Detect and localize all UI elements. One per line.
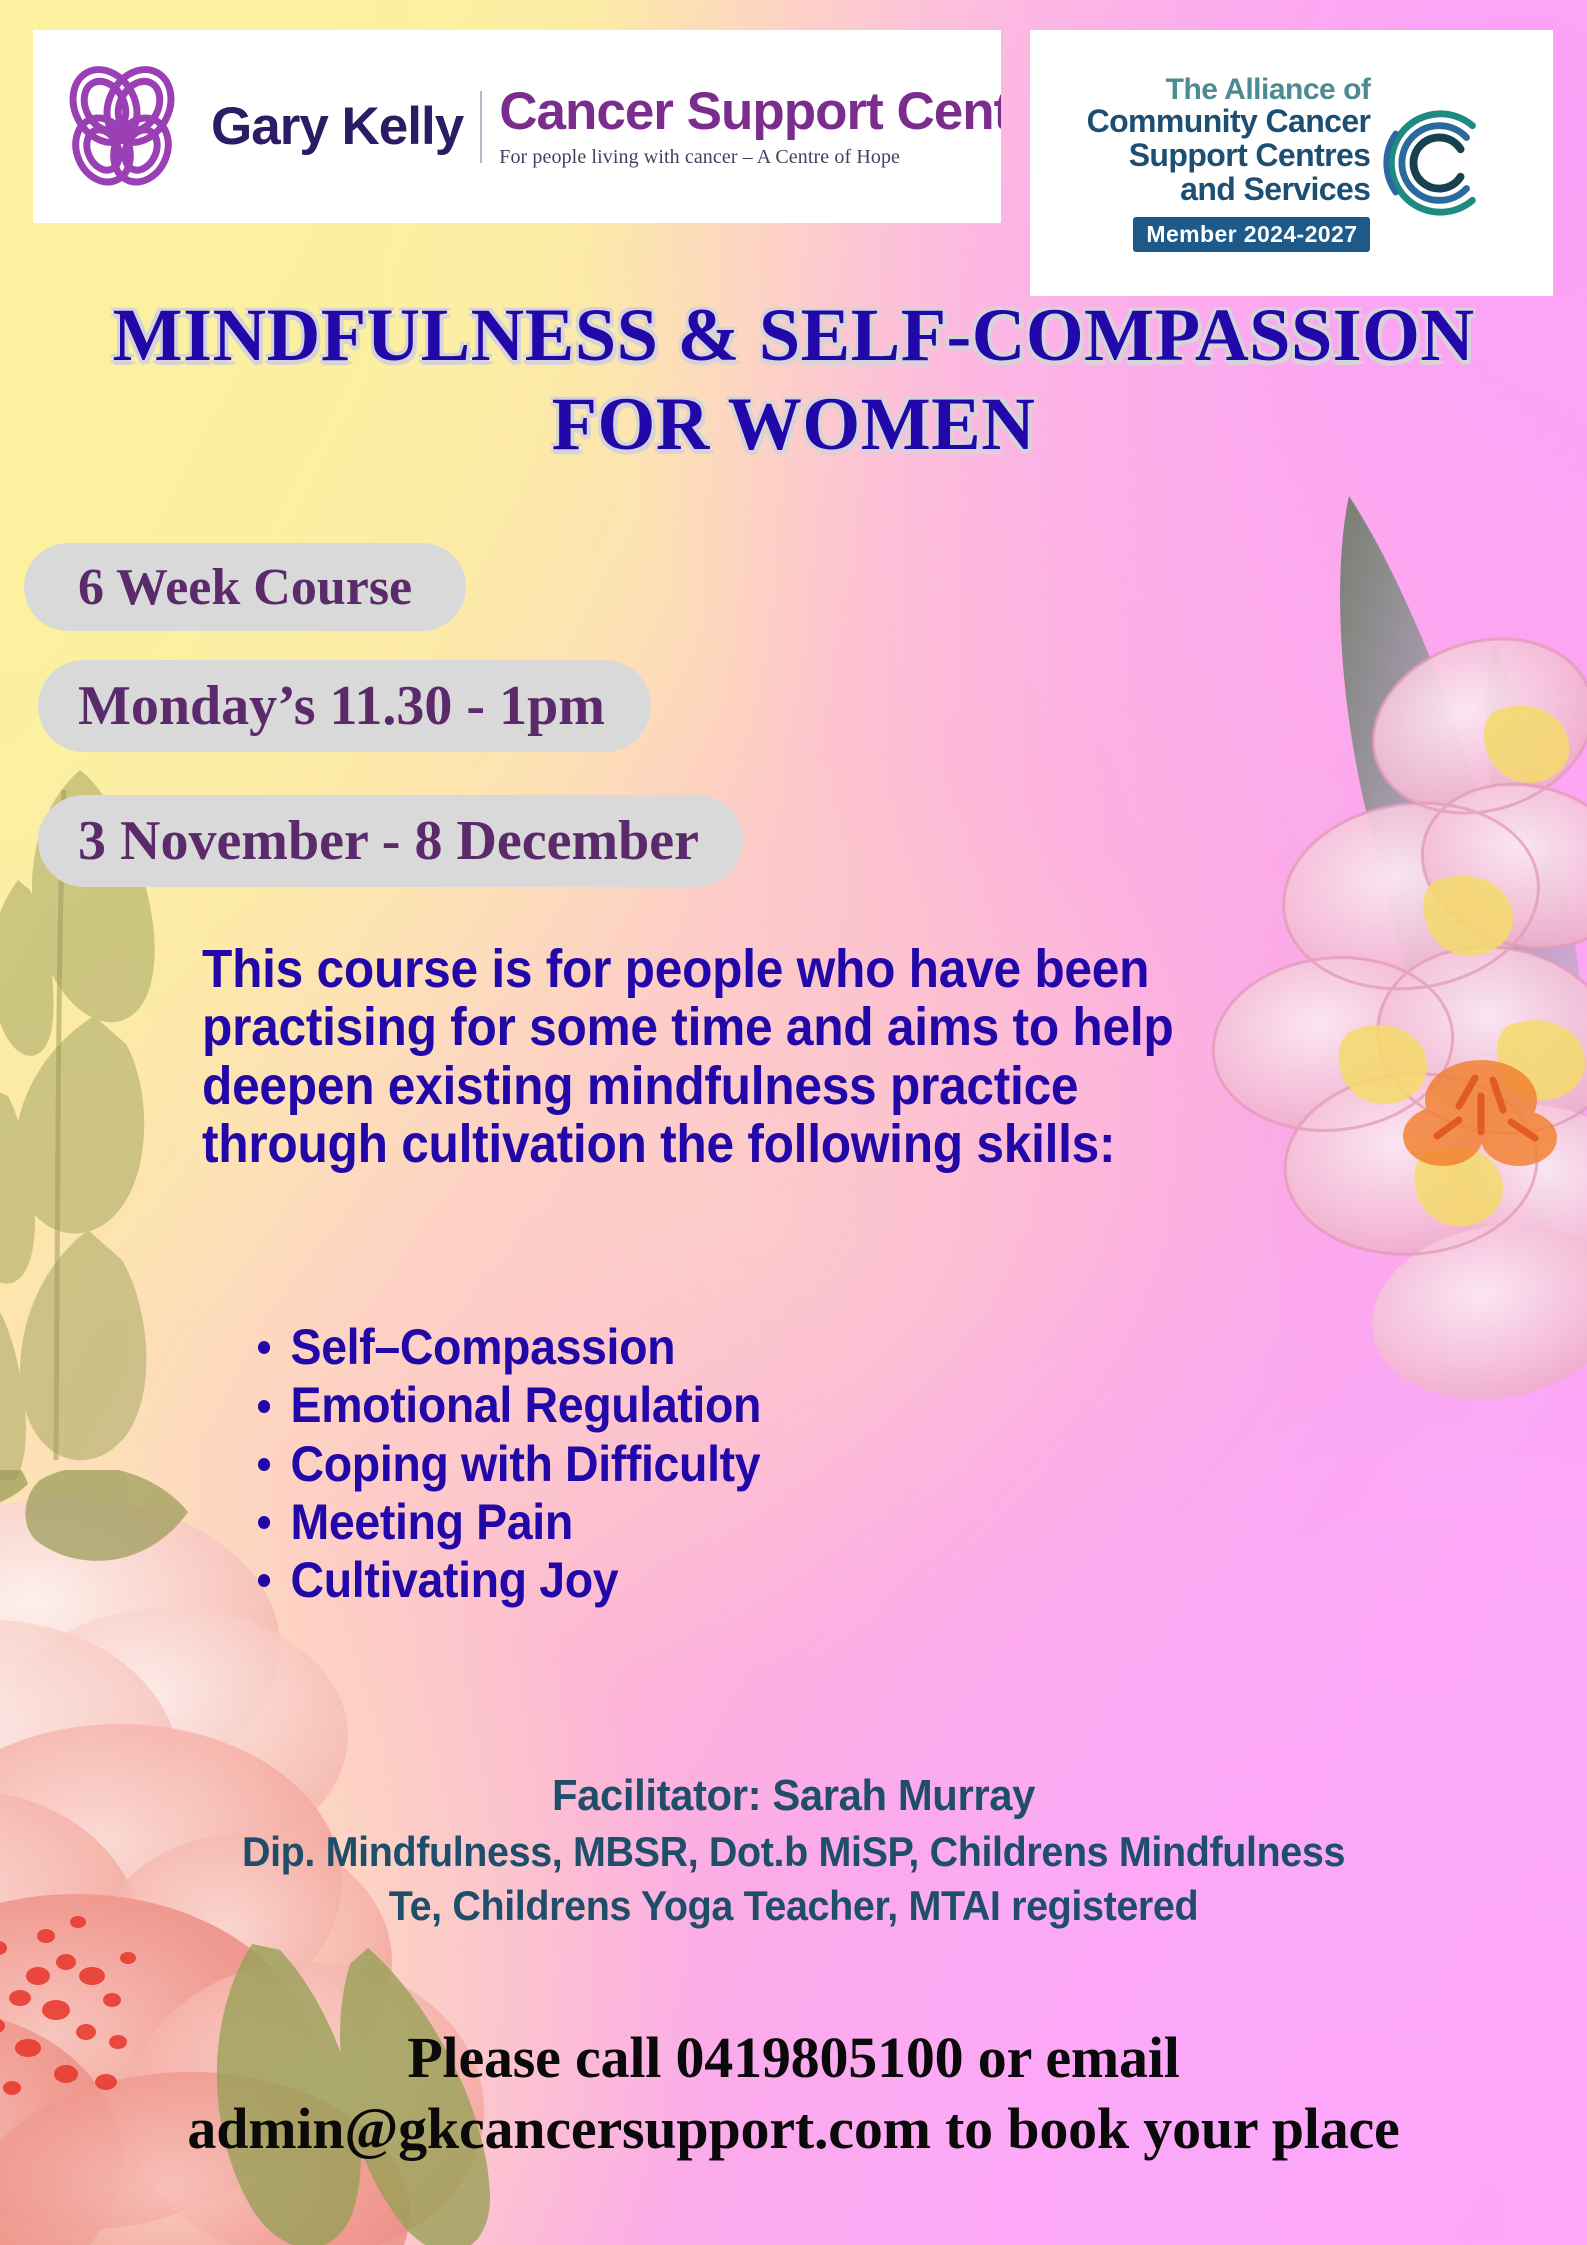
alliance-circles-icon <box>1378 104 1496 222</box>
facilitator-name: Facilitator: Sarah Murray <box>40 1770 1548 1823</box>
description-line-3: deepen existing mindfulness practice <box>202 1057 1280 1115</box>
alliance-line-4: and Services <box>1087 173 1371 207</box>
page-title: MINDFULNESS & SELF-COMPASSION FOR WOMEN <box>8 292 1579 469</box>
list-item: Cultivating Joy <box>258 1551 761 1609</box>
watercolor-leaf-icon <box>1297 490 1587 1250</box>
contact-line-2: admin@gkcancersupport.com to book your p… <box>0 2094 1587 2165</box>
alliance-member-badge: Member 2024-2027 <box>1133 217 1370 252</box>
bullet-icon <box>258 1574 270 1587</box>
description-line-4: through cultivation the following skills… <box>202 1115 1280 1173</box>
facilitator-credentials-2: Te, Childrens Yoga Teacher, MTAI registe… <box>48 1881 1540 1931</box>
bullet-icon <box>258 1458 270 1471</box>
skill-label: Coping with Difficulty <box>291 1436 761 1492</box>
title-line-1: MINDFULNESS & SELF-COMPASSION <box>8 292 1579 381</box>
course-time-badge: Monday’s 11.30 - 1pm <box>38 660 651 752</box>
contact-block: Please call 0419805100 or email admin@gk… <box>0 2023 1587 2165</box>
skill-label: Cultivating Joy <box>291 1552 619 1608</box>
alliance-line-3: Support Centres <box>1087 139 1371 173</box>
contact-line-1: Please call 0419805100 or email <box>0 2023 1587 2094</box>
facilitator-credentials-1: Dip. Mindfulness, MBSR, Dot.b MiSP, Chil… <box>48 1827 1540 1877</box>
bullet-icon <box>258 1516 270 1529</box>
title-line-2: FOR WOMEN <box>8 381 1579 470</box>
butterfly-icon <box>61 62 191 192</box>
bullet-icon <box>258 1341 270 1354</box>
alliance-line-1: The Alliance of <box>1087 74 1371 106</box>
poster-canvas: Gary Kelly Cancer Support Centre For peo… <box>0 0 1587 2245</box>
gk-logo-name: Gary Kelly <box>211 96 463 157</box>
course-dates-badge: 3 November - 8 December <box>38 795 743 887</box>
gk-logo-centre: Cancer Support Centre <box>499 85 1001 138</box>
course-description: This course is for people who have been … <box>202 940 1280 1173</box>
list-item: Meeting Pain <box>258 1493 761 1551</box>
course-length-badge: 6 Week Course <box>24 543 466 631</box>
alliance-line-2: Community Cancer <box>1087 105 1371 139</box>
facilitator-block: Facilitator: Sarah Murray Dip. Mindfulne… <box>0 1770 1587 1932</box>
skill-label: Meeting Pain <box>291 1494 573 1550</box>
skill-label: Self–Compassion <box>291 1319 676 1375</box>
skills-list: Self–Compassion Emotional Regulation Cop… <box>258 1318 799 1609</box>
skill-label: Emotional Regulation <box>291 1377 761 1433</box>
list-item: Coping with Difficulty <box>258 1435 761 1493</box>
list-item: Self–Compassion <box>258 1318 761 1376</box>
gk-logo-tagline: For people living with cancer – A Centre… <box>499 146 1001 169</box>
gary-kelly-logo: Gary Kelly Cancer Support Centre For peo… <box>33 30 1001 223</box>
description-line-2: practising for some time and aims to hel… <box>202 998 1280 1056</box>
alliance-logo: The Alliance of Community Cancer Support… <box>1030 30 1553 296</box>
description-line-1: This course is for people who have been <box>202 940 1280 998</box>
gk-logo-divider <box>480 91 482 163</box>
list-item: Emotional Regulation <box>258 1376 761 1434</box>
bullet-icon <box>258 1400 270 1413</box>
